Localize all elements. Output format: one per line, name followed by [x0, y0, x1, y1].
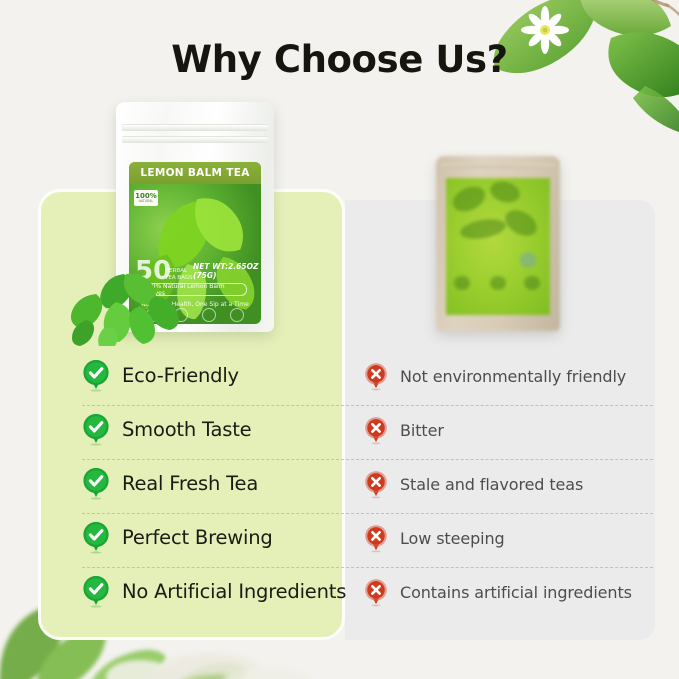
check-circle-icon — [82, 467, 110, 500]
badge-sub: NATURAL — [139, 200, 154, 203]
con-cell: Bitter — [364, 416, 444, 445]
con-label: Bitter — [400, 421, 444, 440]
net-weight: NET WT:2.65OZ (75G) — [193, 262, 261, 280]
check-circle-icon — [82, 575, 110, 608]
pro-cell: Real Fresh Tea — [82, 467, 258, 500]
non-gmo-cert-icon — [230, 308, 244, 322]
con-cell: Contains artificial ingredients — [364, 578, 632, 607]
pro-label: Real Fresh Tea — [122, 472, 258, 495]
con-label: Not environmentally friendly — [400, 367, 626, 386]
pro-label: Eco-Friendly — [122, 364, 239, 387]
con-cell: Not environmentally friendly — [364, 362, 626, 391]
natural-badge: 100% NATURAL — [134, 190, 158, 206]
cross-circle-icon — [364, 578, 388, 607]
check-circle-icon — [82, 359, 110, 392]
product-brand-line: LEMON BALM TEA — [140, 167, 249, 179]
lemon-balm-leaves-and-flower-icon — [459, 0, 679, 162]
table-row[interactable]: Eco-Friendly Not environmentally friendl… — [0, 351, 679, 405]
table-row[interactable]: Real Fresh Tea Stale and flavored teas — [0, 459, 679, 513]
con-cell: Stale and flavored teas — [364, 470, 583, 499]
cross-circle-icon — [364, 470, 388, 499]
competitor-product-image — [436, 156, 560, 331]
con-label: Stale and flavored teas — [400, 475, 583, 494]
check-circle-icon — [82, 521, 110, 554]
check-circle-icon — [82, 413, 110, 446]
con-label: Low steeping — [400, 529, 505, 548]
comparison-infographic: Why Choose Us? LEMON BALM TEA — [0, 0, 679, 679]
table-row[interactable]: No Artificial Ingredients Contains artif… — [0, 567, 679, 621]
pro-label: Perfect Brewing — [122, 526, 273, 549]
pro-cell: Smooth Taste — [82, 413, 251, 446]
page-title: Why Choose Us? — [0, 38, 679, 81]
pro-cell: Eco-Friendly — [82, 359, 239, 392]
con-cell: Low steeping — [364, 524, 505, 553]
con-label: Contains artificial ingredients — [400, 583, 632, 602]
pro-label: Smooth Taste — [122, 418, 251, 441]
pro-label: No Artificial Ingredients — [122, 580, 346, 603]
pro-cell: Perfect Brewing — [82, 521, 273, 554]
table-row[interactable]: Perfect Brewing Low steeping — [0, 513, 679, 567]
cross-circle-icon — [364, 524, 388, 553]
cross-circle-icon — [364, 416, 388, 445]
pro-cell: No Artificial Ingredients — [82, 575, 346, 608]
health-cert-icon — [202, 308, 216, 322]
table-row[interactable]: Smooth Taste Bitter — [0, 405, 679, 459]
fresh-mint-leaves-icon — [66, 268, 186, 346]
cross-circle-icon — [364, 362, 388, 391]
